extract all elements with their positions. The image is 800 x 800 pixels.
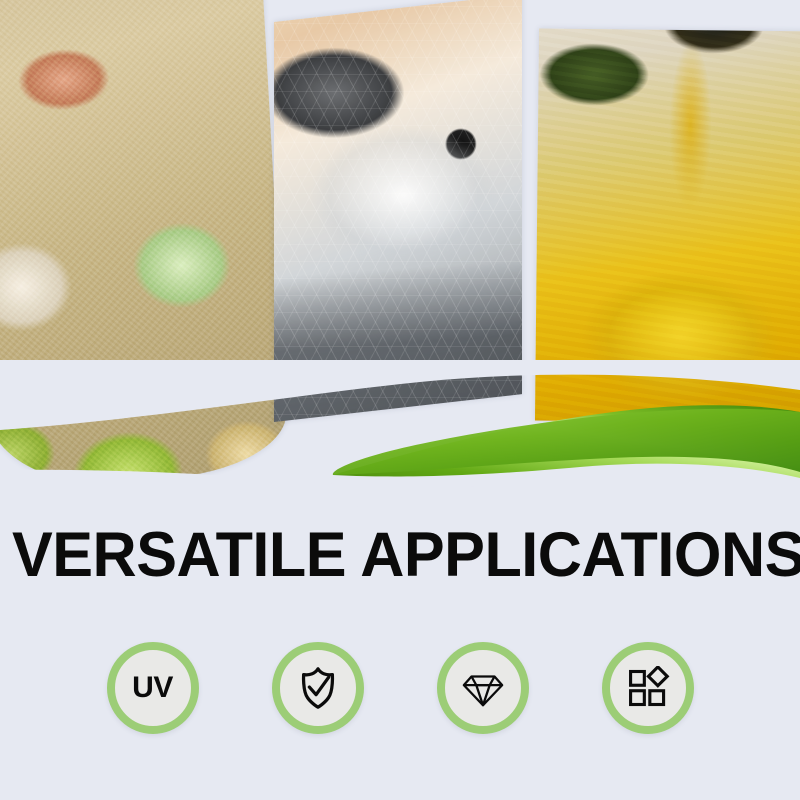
- badge-uv[interactable]: UV: [107, 642, 199, 734]
- uv-text: UV: [132, 671, 173, 705]
- badge-safety[interactable]: [272, 642, 364, 734]
- diamond-icon: [460, 665, 506, 711]
- swoosh-base-mask: [300, 474, 800, 520]
- dishrack-photo: [274, 0, 522, 422]
- badge-quality[interactable]: [437, 642, 529, 734]
- oliveoil-photo: [535, 28, 800, 423]
- feature-badge-row: UV: [0, 642, 800, 734]
- panel-oliveoil: [535, 28, 800, 423]
- shield-check-icon: [295, 665, 341, 711]
- panel-legumes: [0, 0, 290, 480]
- photo-collage: [0, 0, 800, 480]
- legumes-photo: [0, 0, 290, 480]
- grid-shapes-icon: [626, 666, 670, 710]
- badge-multiuse[interactable]: [602, 642, 694, 734]
- promo-banner: VERSATILE APPLICATIONS UV: [0, 0, 800, 800]
- panel-dishrack: [274, 0, 522, 422]
- page-title: VERSATILE APPLICATIONS: [12, 524, 788, 587]
